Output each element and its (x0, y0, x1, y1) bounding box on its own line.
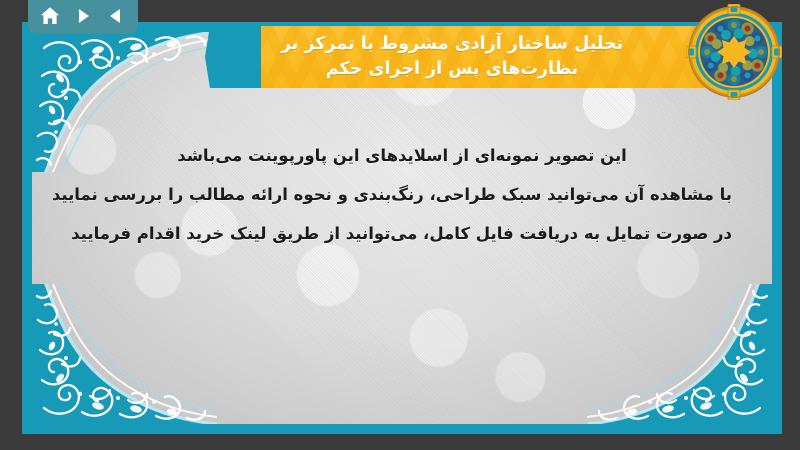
page-title: تحلیل ساختار آزادی مشروط با تمرکز بر نظا… (281, 32, 623, 83)
body-line-2: با مشاهده آن می‌توانید سبک طراحی، رنگ‌بن… (72, 176, 732, 215)
triangle-left-icon (106, 6, 126, 26)
arabesque-corner-ornament-bottom-right (587, 284, 772, 424)
banner-body: تحلیل ساختار آزادی مشروط با تمرکز بر نظا… (261, 26, 725, 88)
persian-rosette-medallion (686, 4, 782, 100)
home-button[interactable] (37, 3, 63, 29)
arabesque-corner-ornament-bottom-left (32, 284, 217, 424)
home-icon (39, 5, 61, 27)
slide-body: این تصویر نمونه‌ای از اسلایدهای این پاور… (72, 137, 732, 253)
triangle-right-icon (73, 6, 93, 26)
title-banner: تحلیل ساختار آزادی مشروط با تمرکز بر نظا… (205, 18, 725, 96)
forward-button[interactable] (70, 3, 96, 29)
banner-ribbon-tail (205, 26, 267, 88)
body-line-3: در صورت تمایل به دریافت فایل کامل، می‌تو… (72, 215, 732, 254)
back-button[interactable] (103, 3, 129, 29)
slide-viewer: این تصویر نمونه‌ای از اسلایدهای این پاور… (0, 0, 800, 450)
body-line-1: این تصویر نمونه‌ای از اسلایدهای این پاور… (72, 137, 732, 176)
navigation-bar (28, 0, 138, 34)
